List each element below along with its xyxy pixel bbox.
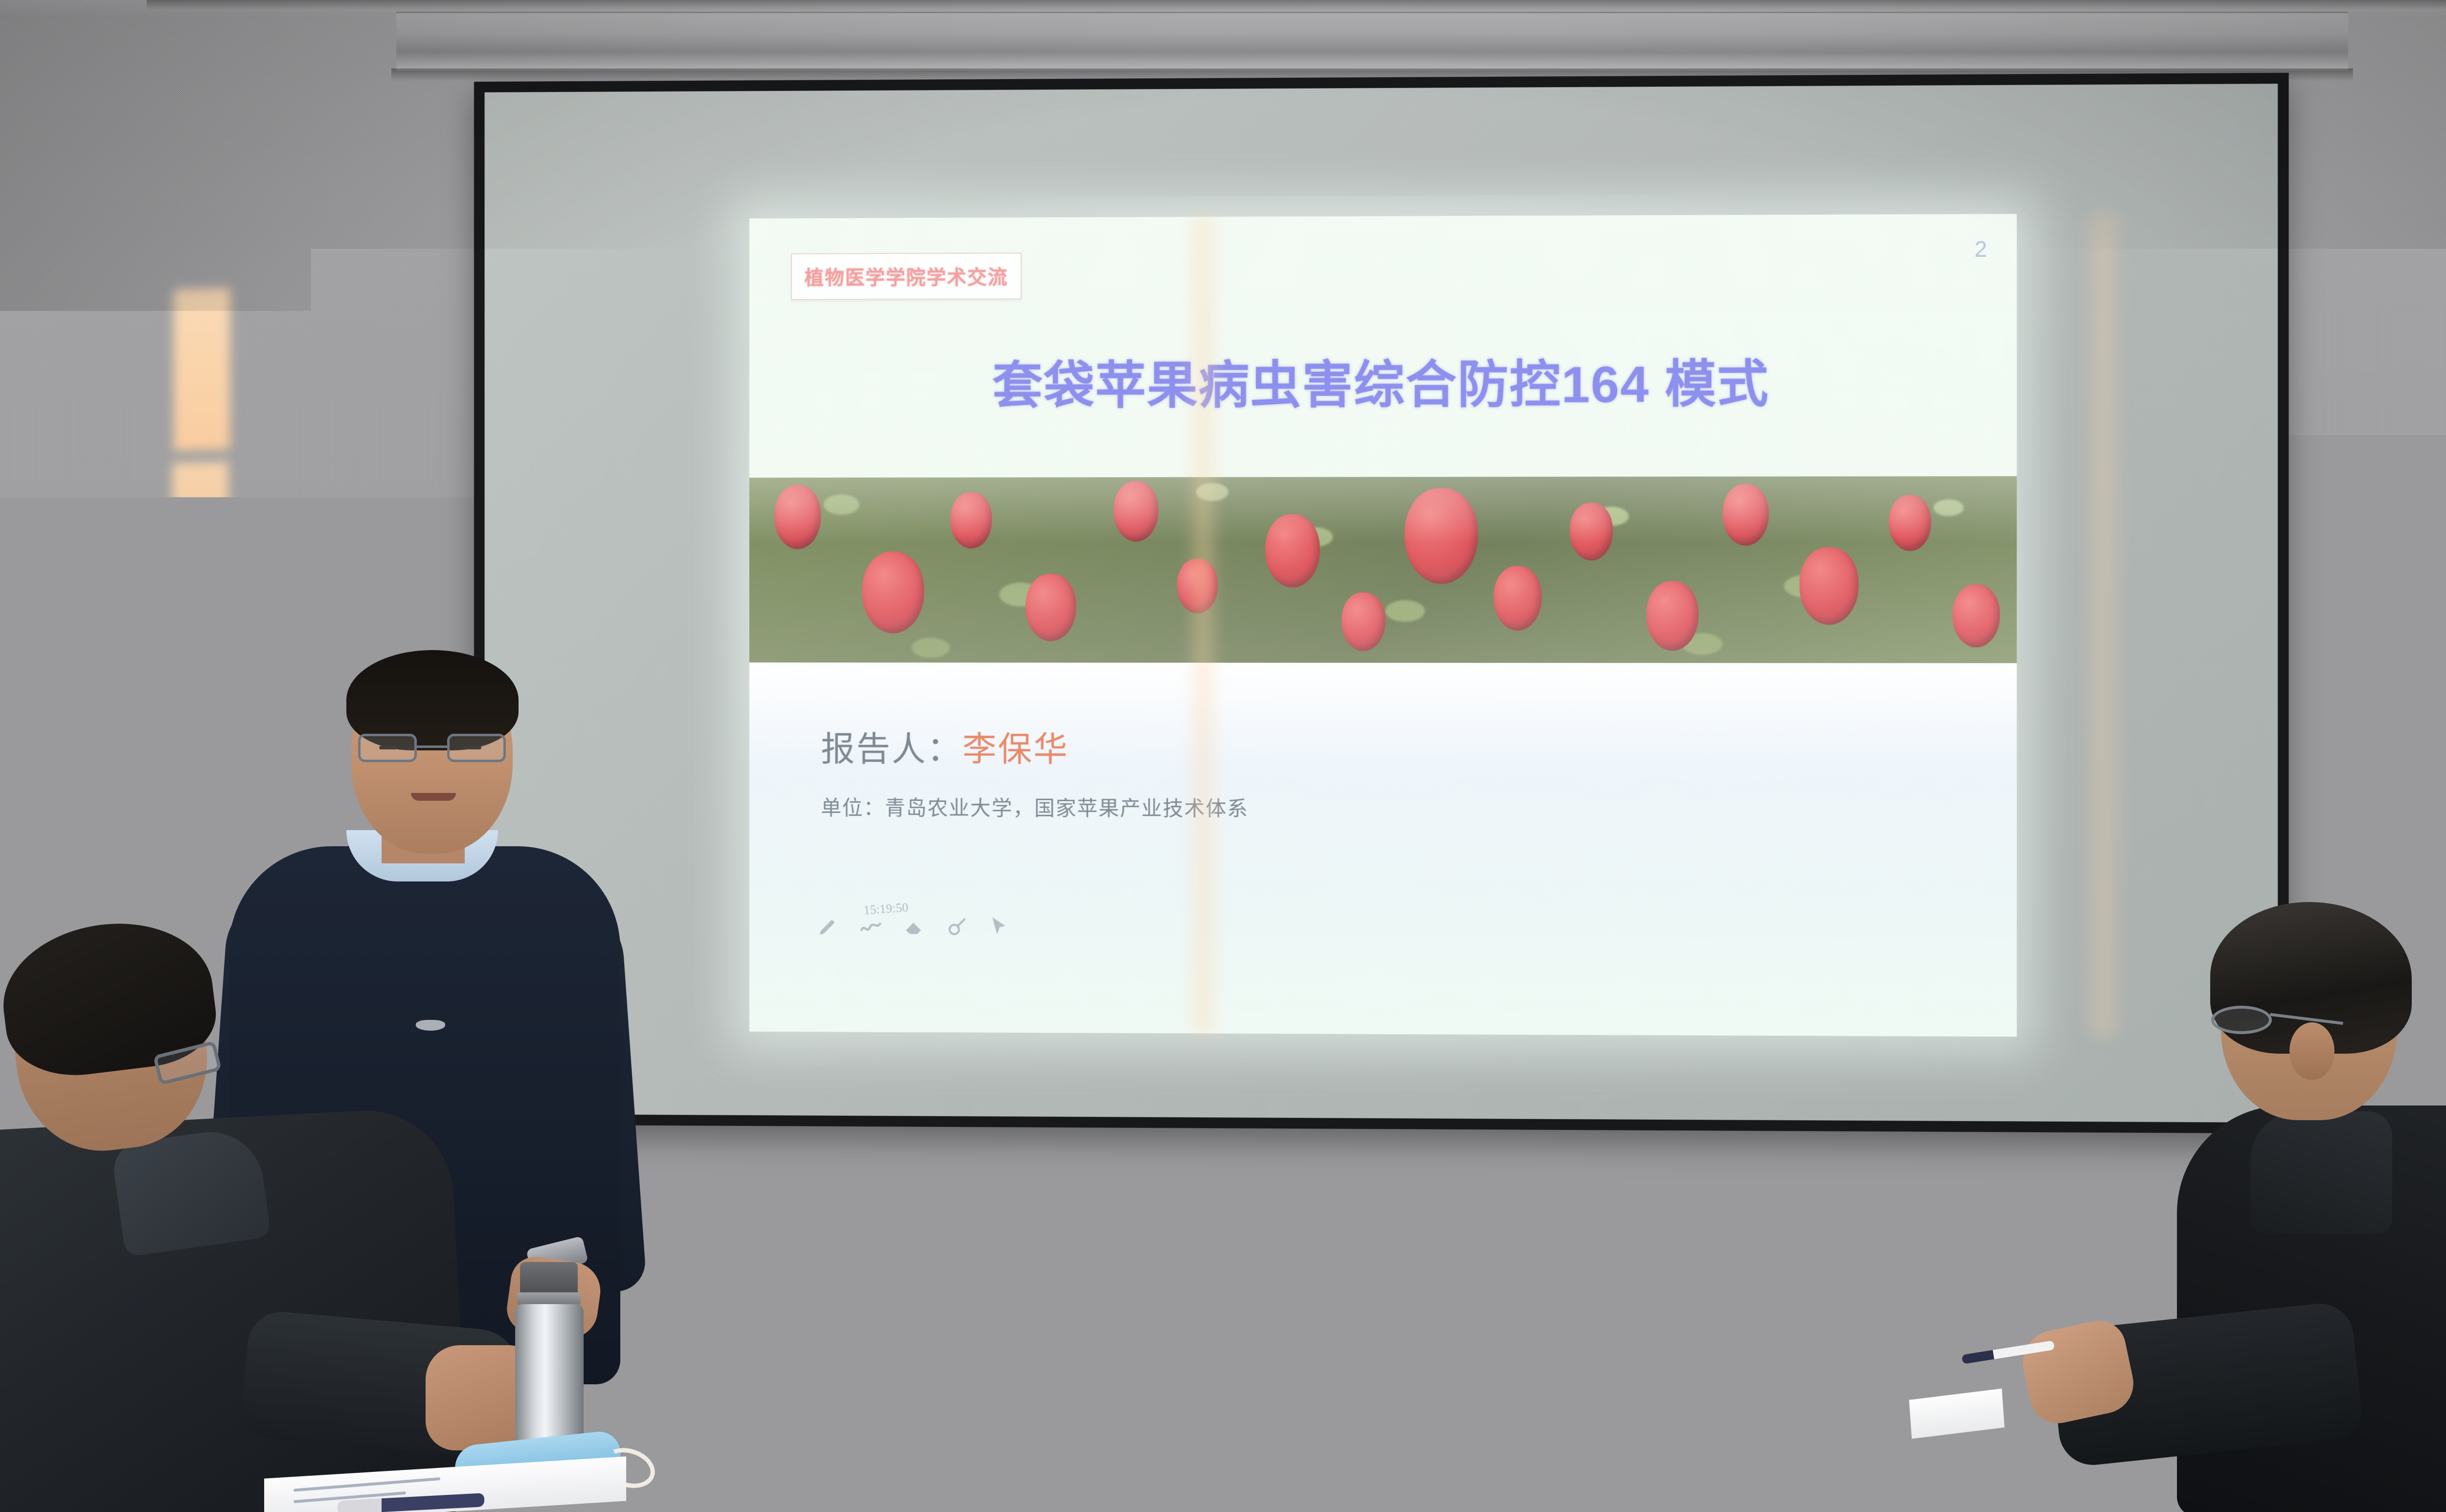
slide-lower-panel xyxy=(749,662,2017,1037)
glasses-icon xyxy=(2211,1006,2272,1034)
presenter-name: 李保华 xyxy=(962,730,1068,768)
presenter-line: 报告人：李保华 xyxy=(821,722,1069,771)
presenter-label: 报告人： xyxy=(821,730,962,768)
projector-screen-housing xyxy=(396,12,2348,70)
seated-attendee-left xyxy=(0,920,587,1512)
seated-attendee-right xyxy=(2148,900,2446,1512)
affiliation-line: 单位：青岛农业大学，国家苹果产业技术体系 xyxy=(821,791,1248,822)
apple-orchard-photo xyxy=(749,476,2017,663)
department-badge-label: 植物医学学院学术交流 xyxy=(804,267,1008,289)
desk-center-top xyxy=(841,1379,1869,1405)
lecture-room-photo: 植物医学学院学术交流 2 套袋苹果病虫害综合防控164 模式 xyxy=(0,0,2446,1512)
projector-haze xyxy=(749,476,2017,663)
arrow-pointer-icon[interactable] xyxy=(988,916,1010,938)
pen-icon[interactable] xyxy=(817,915,839,938)
attendee-right-ear xyxy=(2289,1022,2334,1080)
handwriting-line xyxy=(1957,1481,2030,1487)
handwriting-line xyxy=(1957,1467,2060,1475)
glasses-icon xyxy=(358,734,506,762)
window-light-patch-lower xyxy=(172,461,228,568)
thermos-cap xyxy=(520,1262,578,1294)
window-light-patch-upper xyxy=(174,288,230,451)
department-badge: 植物医学学院学术交流 xyxy=(791,252,1022,300)
ceiling-shadow xyxy=(147,0,2446,10)
projection-screen: 植物医学学院学术交流 2 套袋苹果病虫害综合防控164 模式 xyxy=(474,73,2289,1133)
slide-title: 套袋苹果病虫害综合防控164 模式 xyxy=(749,342,2017,418)
highlighter-icon[interactable] xyxy=(860,915,882,938)
desk-center-edge xyxy=(841,1405,1869,1424)
presenter-ink-toolbar[interactable] xyxy=(817,915,1010,938)
slide-page-number: 2 xyxy=(1974,236,1987,262)
handwriting-line xyxy=(294,1477,440,1492)
attendee-right-collar xyxy=(2250,1111,2392,1234)
projected-slide: 植物医学学院学术交流 2 套袋苹果病虫害综合防控164 模式 xyxy=(749,214,2017,1037)
laser-pointer-icon[interactable] xyxy=(945,915,968,938)
thermos-ring xyxy=(517,1292,581,1305)
presenter-mouth xyxy=(411,793,456,801)
eraser-icon[interactable] xyxy=(902,915,925,938)
